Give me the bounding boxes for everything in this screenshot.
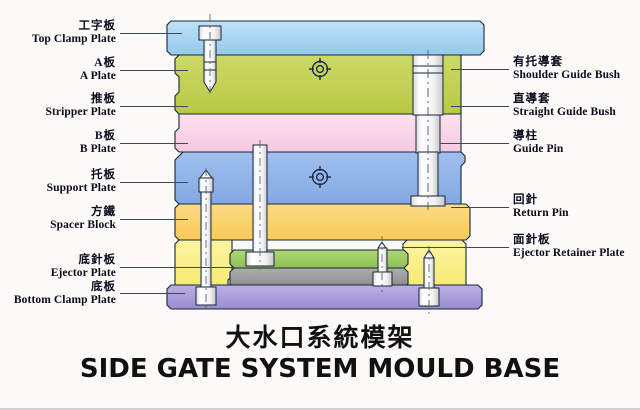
label-en: Ejector Retainer Plate xyxy=(513,247,625,260)
label-en: Top Clamp Plate xyxy=(32,33,116,46)
leader-line-ejector-plate xyxy=(120,267,232,268)
label-support-plate: 托板 Support Plate xyxy=(47,169,116,195)
label-en: Spacer Block xyxy=(50,219,116,232)
label-en: Return Pin xyxy=(513,207,569,220)
label-en: A Plate xyxy=(80,70,116,83)
label-en: Support Plate xyxy=(47,182,116,195)
label-en: Bottom Clamp Plate xyxy=(14,294,116,307)
support-plate xyxy=(175,204,470,240)
label-cn: A板 xyxy=(80,57,116,70)
leader-line-return-pin xyxy=(451,207,509,208)
leader-line-straight-guide-bush xyxy=(451,106,509,107)
label-b-plate: B板 B Plate xyxy=(80,130,116,156)
label-straight-guide-bush: 直導套 Straight Guide Bush xyxy=(513,93,616,119)
title-english: SIDE GATE SYSTEM MOULD BASE xyxy=(0,354,640,384)
label-cn: 面針板 xyxy=(513,234,625,247)
label-ejector-retainer-plate: 面針板 Ejector Retainer Plate xyxy=(513,234,625,260)
label-spacer-block: 方鐵 Spacer Block xyxy=(50,206,116,232)
label-bottom-clamp-plate: 底板 Bottom Clamp Plate xyxy=(14,281,116,307)
label-en: Straight Guide Bush xyxy=(513,106,616,119)
ejector-pin-head xyxy=(373,272,392,286)
label-en: Ejector Plate xyxy=(51,267,116,280)
label-cn: 導柱 xyxy=(513,130,563,143)
label-en: B Plate xyxy=(80,143,116,156)
label-cn: 直導套 xyxy=(513,93,616,106)
cap-screw-shank xyxy=(204,40,216,92)
label-guide-pin: 導柱 Guide Pin xyxy=(513,130,563,156)
leader-line-support-plate xyxy=(120,182,188,183)
ejector-pin-shaft xyxy=(378,248,387,272)
label-en: Guide Pin xyxy=(513,143,563,156)
label-cn: 推板 xyxy=(46,93,117,106)
leader-line-b-plate xyxy=(120,143,188,144)
label-ejector-plate: 底針板 Ejector Plate xyxy=(51,254,116,280)
label-cn: 方鐵 xyxy=(50,206,116,219)
label-shoulder-guide-bush: 有托導套 Shoulder Guide Bush xyxy=(513,56,620,82)
label-cn: 有托導套 xyxy=(513,56,620,69)
label-cn: 工字板 xyxy=(32,20,116,33)
leader-line-ejector-retainer-plate xyxy=(402,247,509,248)
label-cn: 回針 xyxy=(513,194,569,207)
leader-line-bottom-clamp-plate xyxy=(120,293,185,294)
leader-line-stripper-plate xyxy=(120,106,188,107)
leader-line-a-plate xyxy=(120,70,188,71)
label-en: Shoulder Guide Bush xyxy=(513,69,620,82)
label-top-clamp-plate: 工字板 Top Clamp Plate xyxy=(32,20,116,46)
label-cn: 托板 xyxy=(47,169,116,182)
label-return-pin: 回針 Return Pin xyxy=(513,194,569,220)
label-cn: 底板 xyxy=(14,281,116,294)
diagram-canvas: 工字板 Top Clamp Plate A板 A Plate 推板 Stripp… xyxy=(0,0,640,408)
label-a-plate: A板 A Plate xyxy=(80,57,116,83)
label-cn: 底針板 xyxy=(51,254,116,267)
title-block: 大水口系統模架 SIDE GATE SYSTEM MOULD BASE xyxy=(0,318,640,384)
label-cn: B板 xyxy=(80,130,116,143)
leader-line-top-clamp-plate xyxy=(120,33,182,34)
leader-line-shoulder-guide-bush xyxy=(451,69,509,70)
label-en: Stripper Plate xyxy=(46,106,117,119)
leader-line-guide-pin xyxy=(440,143,509,144)
leader-line-spacer-block xyxy=(120,219,188,220)
label-stripper-plate: 推板 Stripper Plate xyxy=(46,93,117,119)
title-chinese: 大水口系統模架 xyxy=(0,318,640,354)
